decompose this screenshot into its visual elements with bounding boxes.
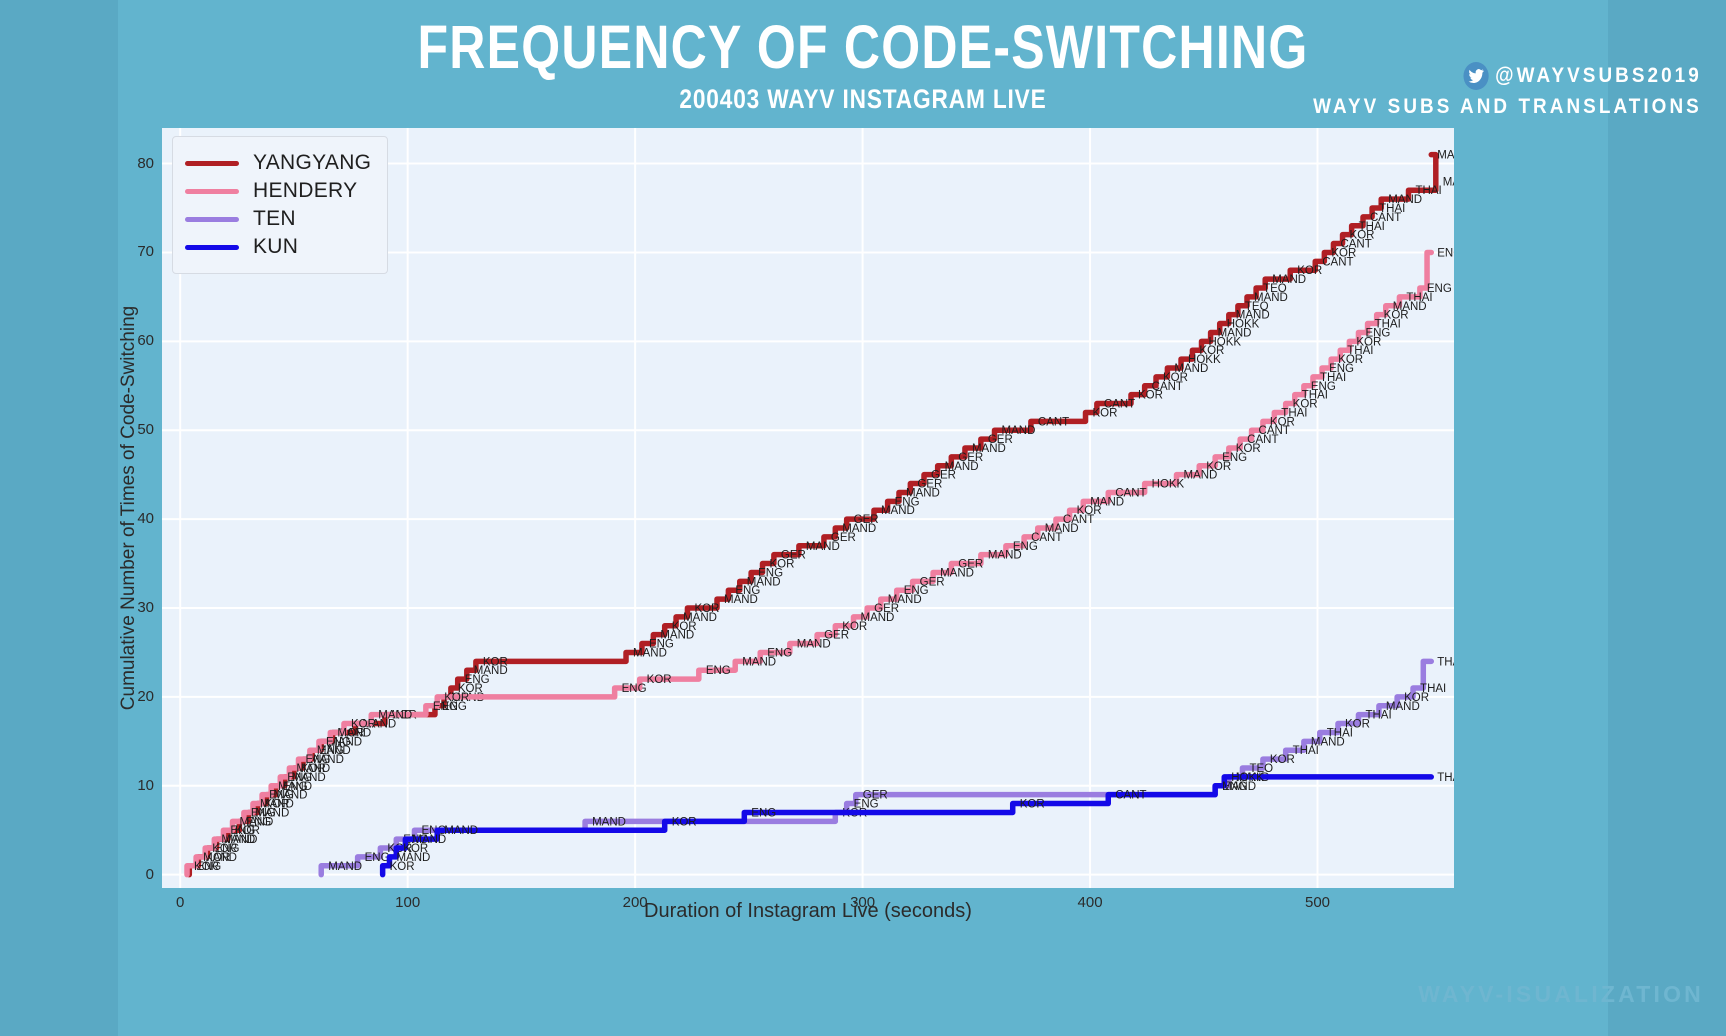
point-label: GER: [781, 550, 806, 562]
point-label: MAND: [328, 861, 362, 873]
y-tick: 10: [114, 777, 154, 794]
point-label: ENG: [365, 852, 390, 864]
point-label: KOR: [694, 603, 719, 615]
point-label: GER: [854, 514, 879, 526]
legend-item-hendery[interactable]: HENDERY: [185, 177, 371, 205]
legend-item-yangyang[interactable]: YANGYANG: [185, 149, 371, 177]
y-tick: 20: [114, 688, 154, 705]
legend-swatch-hendery: [185, 189, 239, 194]
legend: YANGYANG HENDERY TEN KUN: [172, 136, 388, 274]
series-end-label: ENG: [1437, 247, 1454, 259]
point-label: HOKK: [1152, 479, 1185, 491]
point-label: KOR: [1020, 799, 1045, 811]
point-label: ENG: [751, 807, 776, 819]
legend-item-kun[interactable]: KUN: [185, 233, 371, 261]
y-tick: 60: [114, 332, 154, 349]
point-label: THAI: [1420, 683, 1446, 695]
y-tick: 0: [114, 866, 154, 883]
credits-block: @WAYVSUBS2019 WAYV SUBS AND TRANSLATIONS: [1270, 62, 1702, 119]
y-tick: 70: [114, 243, 154, 260]
right-rail: [1608, 0, 1726, 1036]
point-label: KOR: [647, 674, 672, 686]
watermark: WAYV-ISUALIZATION: [1418, 981, 1704, 1008]
point-label: ENG: [1427, 283, 1452, 295]
point-label: CANT: [1038, 416, 1069, 428]
point-label: MAND: [592, 816, 626, 828]
point-label: MAND: [444, 825, 478, 837]
legend-label-ten: TEN: [253, 207, 296, 231]
point-label: CANT: [1104, 399, 1135, 411]
legend-label-hendery: HENDERY: [253, 179, 357, 203]
legend-swatch-yangyang: [185, 161, 239, 166]
left-rail: [0, 0, 118, 1036]
legend-swatch-ten: [185, 217, 239, 222]
y-tick: 30: [114, 599, 154, 616]
point-label: CANT: [1115, 790, 1146, 802]
y-tick: 50: [114, 421, 154, 438]
point-label: ENG: [706, 665, 731, 677]
point-label: MAND: [1002, 425, 1036, 437]
point-label: KOR: [351, 719, 376, 731]
point-label: KOR: [444, 692, 469, 704]
point-label: KOR: [1297, 265, 1322, 277]
series-end-label: MAND: [1437, 150, 1454, 162]
point-label: KOR: [483, 656, 508, 668]
y-tick: 80: [114, 155, 154, 172]
point-label: HOKK: [1231, 772, 1264, 784]
point-label: GER: [863, 790, 888, 802]
point-label: MAND: [412, 834, 446, 846]
x-axis-label: Duration of Instagram Live (seconds): [162, 900, 1454, 923]
twitter-handle: @WAYVSUBS2019: [1495, 64, 1702, 88]
point-label: THAI: [1416, 185, 1442, 197]
point-label: KOR: [1270, 754, 1295, 766]
legend-label-yangyang: YANGYANG: [253, 151, 371, 175]
point-label: MAND: [1443, 176, 1454, 188]
legend-label-kun: KUN: [253, 235, 298, 259]
point-label: GER: [958, 559, 983, 571]
y-tick: 40: [114, 510, 154, 527]
series-end-label: THAI: [1437, 656, 1454, 668]
point-label: ENG: [622, 683, 647, 695]
legend-item-ten[interactable]: TEN: [185, 205, 371, 233]
point-label: MAND: [378, 710, 412, 722]
credit-text: WAYV SUBS AND TRANSLATIONS: [1313, 95, 1702, 119]
legend-swatch-kun: [185, 245, 239, 250]
series-end-label: THAI: [1437, 772, 1454, 784]
point-label: ENG: [767, 647, 792, 659]
point-label: CANT: [1115, 487, 1146, 499]
twitter-bird-icon: [1464, 62, 1489, 90]
y-axis-label: Cumulative Number of Times of Code-Switc…: [115, 128, 143, 888]
point-label: KOR: [672, 816, 697, 828]
